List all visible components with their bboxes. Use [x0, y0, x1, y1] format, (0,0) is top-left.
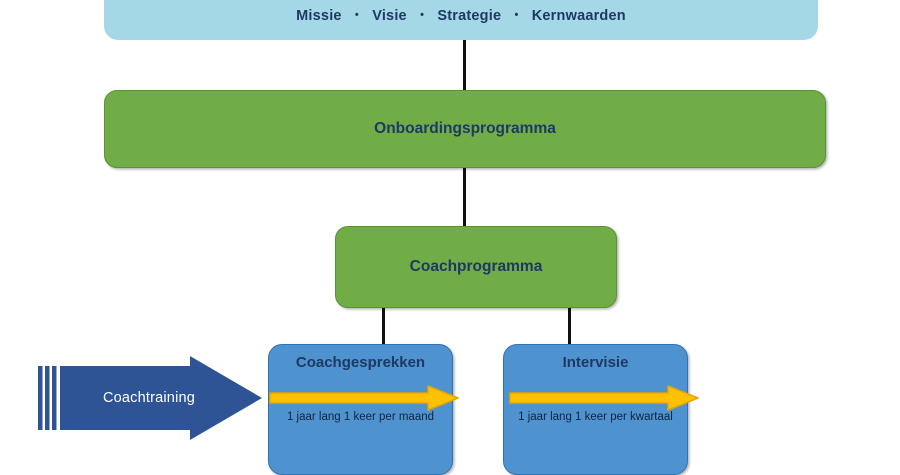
node-intervisie-caption: 1 jaar lang 1 keer per kwartaal [508, 410, 683, 426]
bullet-separator-icon: • [505, 9, 527, 21]
node-coachgesprekken[interactable]: Coachgesprekken 1 jaar lang 1 keer per m… [268, 344, 453, 475]
banner-item-visie: Visie [372, 8, 407, 24]
node-coachprogramma[interactable]: Coachprogramma [335, 226, 617, 308]
node-intervisie-title: Intervisie [563, 354, 629, 372]
bullet-separator-icon: • [411, 9, 433, 21]
banner-item-missie: Missie [296, 8, 342, 24]
banner-label: Missie • Visie • Strategie • Kernwaarden [296, 8, 626, 24]
banner-mission-vision: Missie • Visie • Strategie • Kernwaarden [104, 0, 818, 40]
node-onboardingsprogramma[interactable]: Onboardingsprogramma [104, 90, 826, 168]
diagram-canvas: Missie • Visie • Strategie • Kernwaarden… [0, 0, 900, 475]
node-intervisie[interactable]: Intervisie 1 jaar lang 1 keer per kwarta… [503, 344, 688, 475]
connector-onboarding-to-coachprogramma [463, 168, 466, 226]
node-coachgesprekken-title: Coachgesprekken [296, 354, 425, 372]
bullet-separator-icon: • [346, 9, 368, 21]
banner-item-kernwaarden: Kernwaarden [532, 8, 626, 24]
connector-coachprogramma-to-coachgesprekken [382, 308, 385, 344]
node-coachprogramma-label: Coachprogramma [410, 258, 543, 276]
coachtraining-label: Coachtraining [38, 356, 238, 440]
node-onboardingsprogramma-label: Onboardingsprogramma [374, 120, 556, 138]
connector-banner-to-onboarding [463, 40, 466, 90]
connector-coachprogramma-to-intervisie [568, 308, 571, 344]
node-coachgesprekken-caption: 1 jaar lang 1 keer per maand [277, 410, 444, 426]
banner-item-strategie: Strategie [437, 8, 501, 24]
